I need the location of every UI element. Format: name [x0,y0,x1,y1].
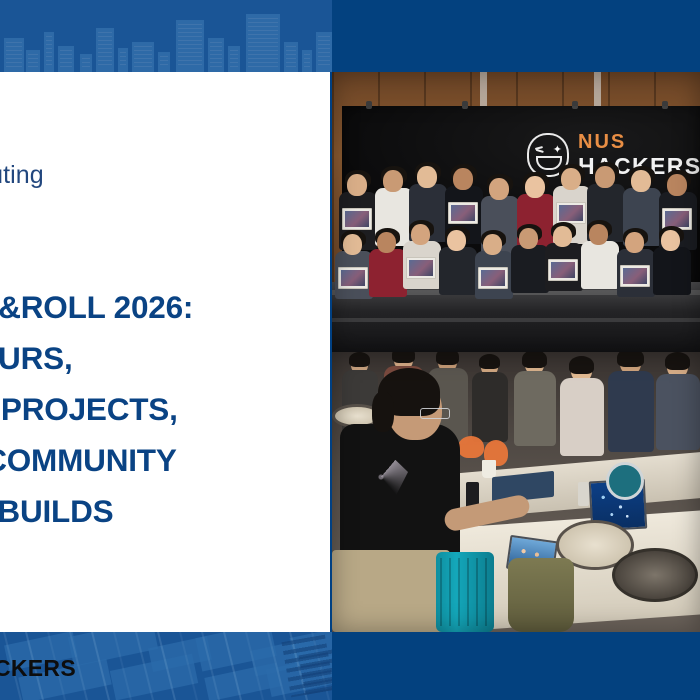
bottom-right-blue-panel [332,632,700,700]
certificate-held [406,257,436,279]
foreground-person-ponytail [372,392,394,432]
top-right-blue-panel [332,0,700,72]
brand-footer-label: NUS HACKERS [0,655,76,682]
round-monitor [606,462,644,500]
orange-bag-object [458,436,484,458]
content-card: Computing HACK&ROLL 2026: 24 HOURS, REAL… [0,72,330,632]
backpack [508,558,574,632]
poster-canvas: Computing HACK&ROLL 2026: 24 HOURS, REAL… [0,0,700,700]
headline-line-4: ONE COMMUNITY [0,435,338,486]
dark-pan [612,548,698,602]
headline-line-2: 24 HOURS, [0,333,338,384]
background-participant [656,352,700,450]
background-participant [608,352,654,452]
skyline-watermark [0,0,332,72]
certificate-held [448,202,478,224]
teal-suitcase [436,552,494,632]
background-participant [472,354,508,442]
foreground-person-shirt [340,424,460,564]
background-participant [514,352,556,446]
background-participant [560,356,604,456]
group-photo: ✦ NUS HACKERS [332,72,700,352]
department-label: Computing [0,161,44,190]
paper-cup [482,460,496,478]
photo-column: ✦ NUS HACKERS [332,72,700,632]
certificate-held [620,265,650,287]
headline-line-5: THAT BUILDS [0,486,338,537]
certificate-held [556,202,586,224]
certificate-held [338,267,368,289]
foreground-person-pants [332,550,450,632]
certificate-held [342,208,372,230]
headline-line-1: HACK&ROLL 2026: [0,282,338,333]
logo-text-nus: NUS [578,132,700,152]
headline-line-3: REAL PROJECTS, [0,384,338,435]
page-title: HACK&ROLL 2026: 24 HOURS, REAL PROJECTS,… [0,282,338,537]
foreground-person-glasses [420,408,450,419]
certificate-held [478,267,508,289]
drink-can-2 [578,482,589,506]
participant [650,228,694,297]
certificate-held [548,259,578,281]
workspace-photo [332,352,700,632]
